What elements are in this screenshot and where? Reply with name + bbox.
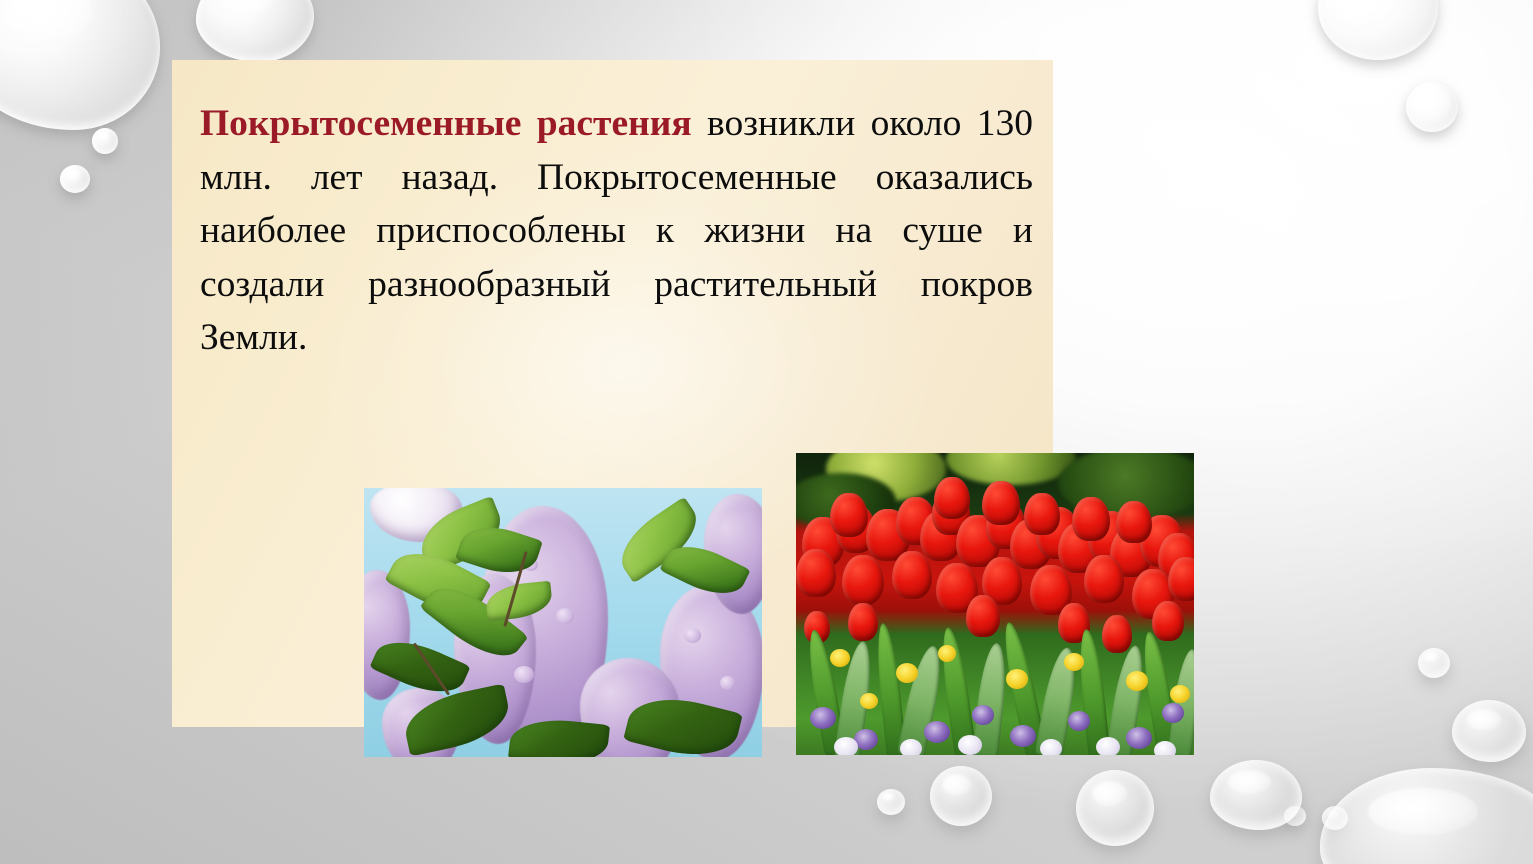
white-pansy — [958, 735, 982, 755]
purple-pansy — [1126, 727, 1152, 749]
yellow-pansy — [830, 649, 850, 667]
yellow-pansy — [860, 693, 878, 709]
content-card: Покрытосеменные растения возникли около … — [172, 60, 1053, 727]
purple-pansy — [972, 705, 994, 725]
card-body-tail: Земли. — [200, 311, 1033, 365]
water-droplet-icon — [196, 0, 314, 62]
tulip-understory — [796, 453, 1194, 755]
highlighted-term: Покрытосеменные растения — [200, 103, 692, 144]
lilac-scene — [364, 488, 762, 757]
water-droplet-icon — [1418, 648, 1450, 678]
water-droplet-icon — [60, 165, 90, 193]
yellow-pansy — [1064, 653, 1084, 671]
white-pansy — [1096, 737, 1120, 755]
yellow-pansy — [896, 663, 918, 683]
water-droplet-icon — [1076, 770, 1154, 846]
white-pansy — [834, 737, 858, 755]
purple-pansy — [1068, 711, 1090, 731]
yellow-pansy — [1126, 671, 1148, 691]
lilac-floret — [684, 628, 701, 643]
water-droplet-icon — [92, 128, 118, 154]
purple-pansy — [924, 721, 950, 743]
lilac-floret — [514, 666, 534, 683]
lilac-floret — [720, 676, 735, 690]
purple-pansy — [1162, 703, 1184, 723]
tulips-photo — [796, 453, 1194, 755]
purple-pansy — [1010, 725, 1036, 747]
water-droplet-icon — [1452, 700, 1526, 762]
purple-pansy — [810, 707, 836, 729]
water-droplet-icon — [1318, 0, 1438, 60]
yellow-pansy — [938, 645, 956, 662]
water-droplet-icon — [877, 789, 905, 815]
water-droplet-icon — [1210, 760, 1302, 830]
presentation-slide: Покрытосеменные растения возникли около … — [0, 0, 1533, 864]
yellow-pansy — [1006, 669, 1028, 689]
white-pansy — [1040, 739, 1062, 755]
water-droplet-icon — [930, 766, 992, 826]
lilac-photo — [364, 488, 762, 757]
white-pansy — [900, 739, 922, 755]
white-pansy — [1154, 741, 1176, 755]
card-paragraph: Покрытосеменные растения возникли около … — [200, 97, 1033, 365]
water-droplet-icon — [0, 0, 160, 130]
water-droplet-icon — [1406, 82, 1458, 132]
lilac-floret — [556, 608, 574, 624]
yellow-pansy — [1170, 685, 1190, 703]
water-droplet-icon — [1320, 768, 1533, 864]
